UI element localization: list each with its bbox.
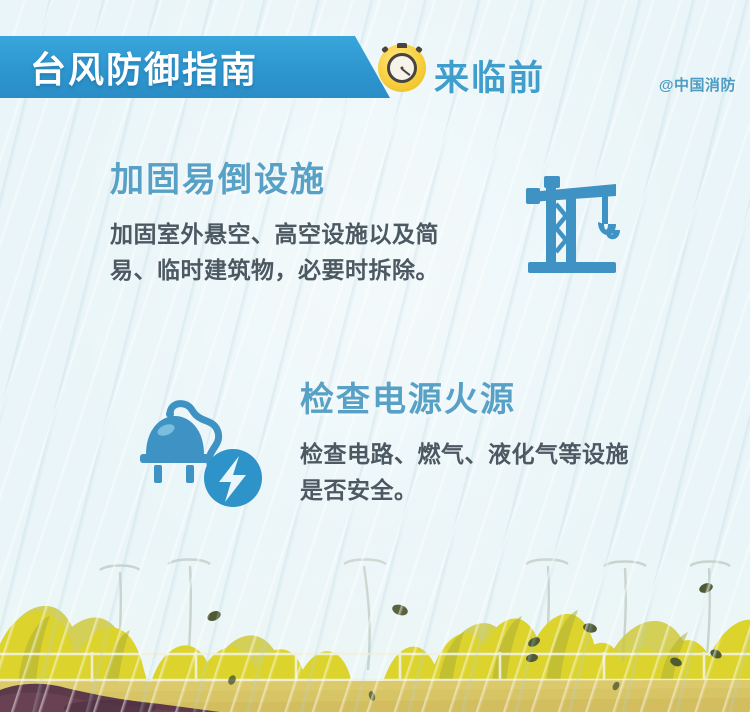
- page-title: 台风防御指南: [30, 41, 258, 93]
- tower-crane-icon: [512, 162, 632, 280]
- stopwatch-icon: [378, 44, 426, 92]
- stopwatch-crown: [397, 43, 407, 48]
- bottom-landscape-scene: [0, 532, 750, 712]
- source-handle: @中国消防: [659, 74, 736, 95]
- section-fortify-structures: 加固易倒设施 加固室外悬空、高空设施以及简易、临时建筑物，必要时拆除。: [110, 152, 480, 288]
- header-subtitle: 来临前: [434, 50, 545, 101]
- section-heading: 检查电源火源: [300, 372, 650, 421]
- header-banner: 台风防御指南: [0, 36, 390, 98]
- stopwatch-face: [387, 53, 417, 83]
- poster-root: 台风防御指南 来临前 @中国消防 加固易倒设施 加固室外悬空、高空设施以及简易、…: [0, 0, 750, 712]
- stopwatch-ear-right: [415, 46, 423, 54]
- power-plug-bolt-icon: [140, 392, 270, 512]
- section-check-power-sources: 检查电源火源 检查电路、燃气、液化气等设施是否安全。: [300, 372, 650, 508]
- section-heading: 加固易倒设施: [110, 152, 480, 201]
- section-body: 加固室外悬空、高空设施以及简易、临时建筑物，必要时拆除。: [110, 217, 480, 288]
- section-body: 检查电路、燃气、液化气等设施是否安全。: [300, 437, 650, 508]
